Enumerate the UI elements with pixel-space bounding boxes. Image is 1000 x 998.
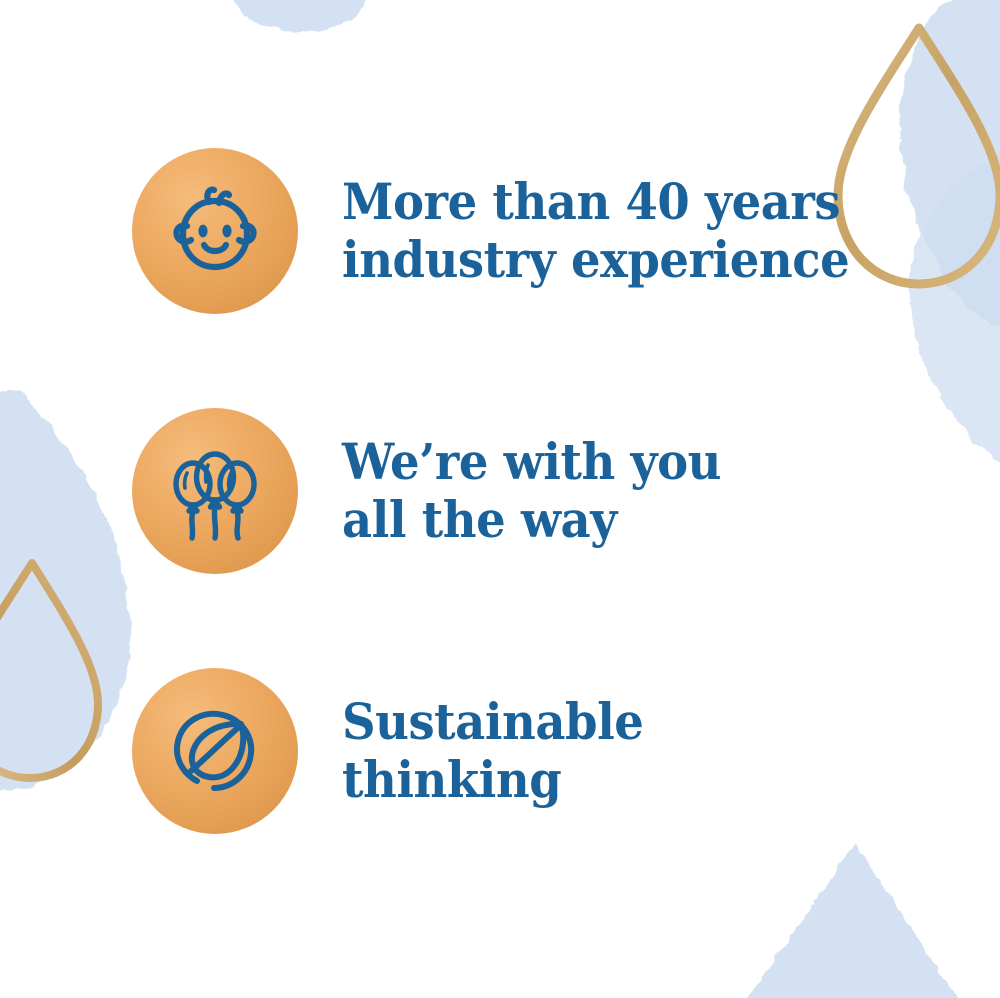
- baby-left-eye: [198, 225, 207, 238]
- feature-item-support: We’re with you all the way: [132, 408, 750, 574]
- promo-graphic: More than 40 years industry experience: [0, 0, 1000, 998]
- feature-label-experience: More than 40 years industry experience: [342, 173, 849, 289]
- watercolor-blob-right-lower: [910, 150, 1000, 470]
- baby-face-icon: [163, 179, 267, 283]
- feature-item-sustainability: Sustainable thinking: [132, 668, 666, 834]
- balloons-icon: [163, 439, 267, 543]
- watercolor-triangle-bottom-right: [742, 843, 962, 998]
- watercolor-blob-top: [232, 0, 368, 32]
- watercolor-blob-top-right: [900, 0, 1000, 330]
- feature-label-sustainability: Sustainable thinking: [342, 693, 643, 809]
- feature-label-support: We’re with you all the way: [342, 433, 721, 549]
- leaf-in-circle-icon: [163, 699, 267, 803]
- badge-circle-experience: [132, 148, 298, 314]
- badge-circle-sustainability: [132, 668, 298, 834]
- baby-right-eye: [222, 225, 231, 238]
- watercolor-blob-left: [0, 392, 131, 790]
- feature-item-experience: More than 40 years industry experience: [132, 148, 887, 314]
- gold-droplet-outline-left: [0, 563, 98, 778]
- badge-circle-support: [132, 408, 298, 574]
